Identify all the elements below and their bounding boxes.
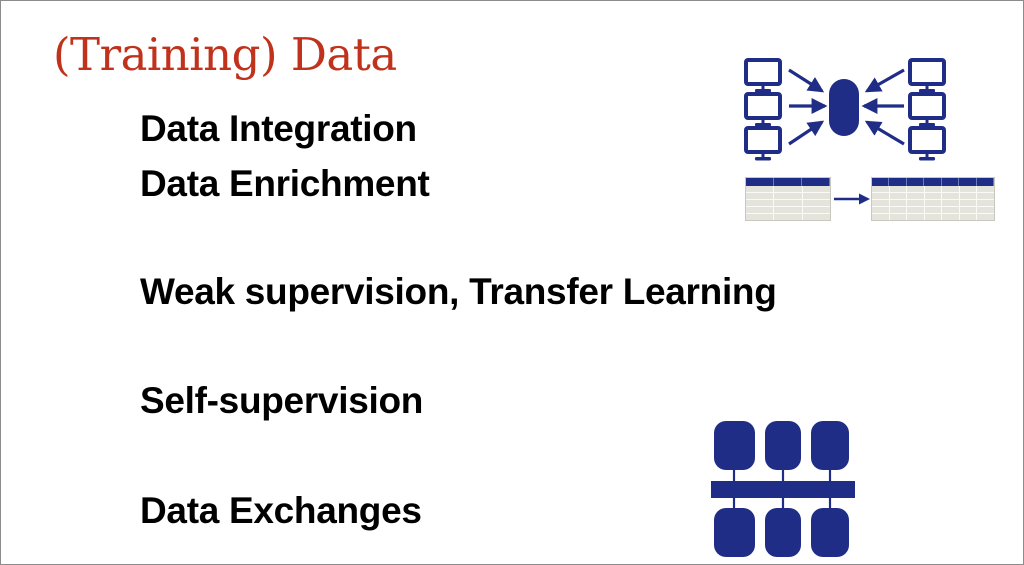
table-cell xyxy=(977,193,994,199)
table-cell xyxy=(803,207,830,213)
table-cell xyxy=(803,186,830,192)
table-cell xyxy=(774,214,802,220)
table-cell xyxy=(942,214,960,220)
arrow-right-1 xyxy=(867,70,904,91)
table-cell xyxy=(907,214,925,220)
arrow-left-3 xyxy=(789,122,822,144)
table-cell xyxy=(977,207,994,213)
table-row xyxy=(746,200,830,207)
table-row xyxy=(872,186,994,193)
data-integration-diagram xyxy=(739,58,951,162)
table-cell xyxy=(803,193,830,199)
slide-canvas: (Training) Data Data Integration Data En… xyxy=(0,0,1024,565)
table-cell xyxy=(746,214,774,220)
table-cell xyxy=(746,193,774,199)
table-header-cell xyxy=(872,178,889,186)
monitor-icon-left-1 xyxy=(746,60,780,93)
table-cell xyxy=(872,214,890,220)
table-cell xyxy=(890,207,908,213)
database-cylinder-icon-top-3 xyxy=(811,421,849,470)
table-cell xyxy=(746,200,774,206)
table-cell xyxy=(890,214,908,220)
table-cell xyxy=(925,214,943,220)
database-cylinder-icon-bottom-3 xyxy=(811,508,849,557)
table-cell xyxy=(960,186,978,192)
table-row xyxy=(872,200,994,207)
table-cell xyxy=(907,200,925,206)
table-cell xyxy=(872,186,890,192)
table-header-cell xyxy=(907,178,924,186)
monitor-icon-right-1 xyxy=(910,60,944,93)
table-cell xyxy=(925,207,943,213)
table-header-cell xyxy=(959,178,976,186)
table-header-row xyxy=(872,178,994,186)
bullet-self-supervision: Self-supervision xyxy=(140,379,423,423)
table-cell xyxy=(942,186,960,192)
database-cylinder-icon xyxy=(829,79,859,136)
bullet-data-integration: Data Integration xyxy=(140,107,417,151)
table-cell xyxy=(746,207,774,213)
table-cell xyxy=(907,193,925,199)
table-cell xyxy=(960,193,978,199)
table-header-cell xyxy=(774,178,802,186)
table-row xyxy=(746,193,830,200)
monitor-icon-left-3 xyxy=(746,128,780,161)
table-cell xyxy=(746,186,774,192)
table-cell xyxy=(925,193,943,199)
table-header-cell xyxy=(942,178,959,186)
table-header-cell xyxy=(746,178,774,186)
table-cell xyxy=(960,207,978,213)
table-cell xyxy=(907,186,925,192)
table-after-enrichment xyxy=(871,177,995,221)
database-cylinder-icon-top-2 xyxy=(765,421,801,470)
monitor-icon-right-2 xyxy=(910,94,944,127)
table-body xyxy=(872,186,994,220)
table-before-enrichment xyxy=(745,177,831,221)
table-row xyxy=(872,214,994,220)
table-cell xyxy=(925,200,943,206)
table-cell xyxy=(890,200,908,206)
page-title: (Training) Data xyxy=(53,28,397,82)
table-cell xyxy=(803,214,830,220)
table-cell xyxy=(774,207,802,213)
table-header-cell xyxy=(802,178,830,186)
table-cell xyxy=(774,193,802,199)
table-cell xyxy=(774,186,802,192)
table-header-cell xyxy=(924,178,941,186)
table-cell xyxy=(977,214,994,220)
data-enrichment-tables xyxy=(745,177,995,227)
table-cell xyxy=(942,200,960,206)
database-cylinder-icon-top-1 xyxy=(714,421,755,470)
table-row xyxy=(746,207,830,214)
table-cell xyxy=(960,214,978,220)
table-header-row xyxy=(746,178,830,186)
database-cylinder-icon-bottom-2 xyxy=(765,508,801,557)
table-cell xyxy=(872,207,890,213)
table-cell xyxy=(907,207,925,213)
table-cell xyxy=(872,200,890,206)
arrow-left-1 xyxy=(789,70,822,91)
table-body xyxy=(746,186,830,220)
table-cell xyxy=(925,186,943,192)
table-cell xyxy=(803,200,830,206)
table-row xyxy=(872,207,994,214)
table-row xyxy=(872,193,994,200)
table-header-cell xyxy=(889,178,906,186)
table-row xyxy=(746,214,830,220)
horizontal-bus-bar xyxy=(711,481,855,498)
arrow-right-3 xyxy=(867,122,904,144)
right-arrow-icon xyxy=(833,191,871,207)
table-cell xyxy=(942,207,960,213)
monitor-icon-left-2 xyxy=(746,94,780,127)
table-cell xyxy=(774,200,802,206)
table-cell xyxy=(977,186,994,192)
database-cylinder-icon-bottom-1 xyxy=(714,508,755,557)
table-cell xyxy=(890,193,908,199)
table-cell xyxy=(960,200,978,206)
bullet-data-exchanges: Data Exchanges xyxy=(140,489,422,533)
table-cell xyxy=(890,186,908,192)
table-cell xyxy=(977,200,994,206)
bullet-data-enrichment: Data Enrichment xyxy=(140,162,430,206)
table-cell xyxy=(872,193,890,199)
data-exchange-graphic xyxy=(709,419,861,559)
table-cell xyxy=(942,193,960,199)
bullet-weak-supervision: Weak supervision, Transfer Learning xyxy=(140,270,777,314)
monitor-icon-right-3 xyxy=(910,128,944,161)
table-header-cell xyxy=(977,178,994,186)
table-row xyxy=(746,186,830,193)
